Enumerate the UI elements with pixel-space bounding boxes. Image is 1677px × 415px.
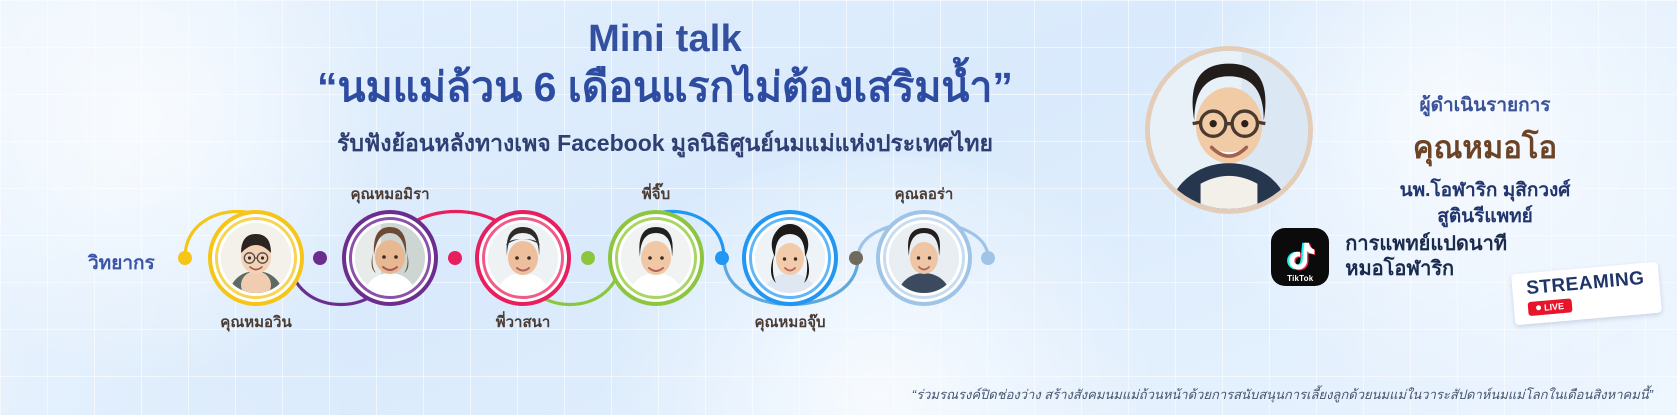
- tiktok-note-icon: [1285, 241, 1315, 273]
- avatar: [221, 223, 291, 293]
- avatar: [621, 223, 691, 293]
- host-fullname: นพ.โอฬาริก มุสิกวงศ์: [1325, 178, 1645, 204]
- host-text-block: ผู้ดำเนินรายการ คุณหมอโอ นพ.โอฬาริก มุสิ…: [1325, 90, 1645, 229]
- headline-block: Mini talk “นมแม่ล้วน 6 เดือนแรกไม่ต้องเส…: [250, 18, 1080, 162]
- headline-topic: “นมแม่ล้วน 6 เดือนแรกไม่ต้องเสริมน้ำ”: [250, 62, 1080, 112]
- speaker-card[interactable]: คุณหมอวิน: [208, 210, 304, 306]
- speaker-photo-3: [488, 223, 558, 293]
- host-avatar: [1145, 46, 1313, 214]
- speaker-card[interactable]: พี่จิ๊บ: [608, 210, 704, 306]
- speaker-timeline: วิทยากร: [0, 180, 1100, 350]
- tiktok-handle-line2: หมอโอฬาริก: [1345, 257, 1507, 282]
- banner-root: Mini talk “นมแม่ล้วน 6 เดือนแรกไม่ต้องเส…: [0, 0, 1677, 415]
- tiktok-row[interactable]: TikTok การแพทย์แปดนาที หมอโอฬาริก: [1271, 228, 1507, 286]
- speaker-card[interactable]: พี่วาสนา: [475, 210, 571, 306]
- speaker-name: พี่วาสนา: [496, 310, 551, 334]
- host-specialty: สูตินรีแพทย์: [1325, 204, 1645, 230]
- avatar: [488, 223, 558, 293]
- host-block: ผู้ดำเนินรายการ คุณหมอโอ นพ.โอฬาริก มุสิ…: [1139, 46, 1659, 246]
- speaker-card[interactable]: คุณหมอมิรา: [342, 210, 438, 306]
- speaker-name: คุณลอร่า: [895, 182, 954, 206]
- speaker-name: คุณหมอจุ๊บ: [754, 310, 825, 334]
- speaker-name: คุณหมอมิรา: [350, 182, 429, 206]
- tiktok-wordmark: TikTok: [1271, 274, 1329, 283]
- avatar: [755, 223, 825, 293]
- headline-subtitle: รับฟังย้อนหลังทางเพจ Facebook มูลนิธิศูน…: [250, 126, 1080, 162]
- host-photo: [1150, 51, 1308, 209]
- tiktok-handle-line1: การแพทย์แปดนาที: [1345, 232, 1507, 257]
- host-role: ผู้ดำเนินรายการ: [1325, 90, 1645, 120]
- speaker-photo-2: [355, 223, 425, 293]
- headline-title: Mini talk: [250, 18, 1080, 62]
- speaker-name: พี่จิ๊บ: [642, 182, 670, 206]
- live-dot-icon: [1535, 305, 1540, 310]
- speaker-photo-4: [621, 223, 691, 293]
- avatar: [355, 223, 425, 293]
- host-nickname: คุณหมอโอ: [1325, 122, 1645, 172]
- tiktok-handle: การแพทย์แปดนาที หมอโอฬาริก: [1345, 232, 1507, 282]
- streaming-label: STREAMING: [1525, 269, 1645, 298]
- streaming-badge: STREAMING LIVE: [1511, 262, 1661, 326]
- speaker-card[interactable]: คุณหมอจุ๊บ: [742, 210, 838, 306]
- speaker-name: คุณหมอวิน: [220, 310, 291, 334]
- speaker-card[interactable]: คุณลอร่า: [876, 210, 972, 306]
- tiktok-icon[interactable]: TikTok: [1271, 228, 1329, 286]
- avatar: [889, 223, 959, 293]
- speaker-photo-6: [889, 223, 959, 293]
- speaker-photo-5: [755, 223, 825, 293]
- footer-quote: “ร่วมรณรงค์ปิดช่องว่าง สร้างสังคมนมแม่ถ้…: [912, 384, 1653, 405]
- live-label: LIVE: [1543, 301, 1564, 313]
- live-badge: LIVE: [1527, 298, 1572, 316]
- speaker-photo-1: [221, 223, 291, 293]
